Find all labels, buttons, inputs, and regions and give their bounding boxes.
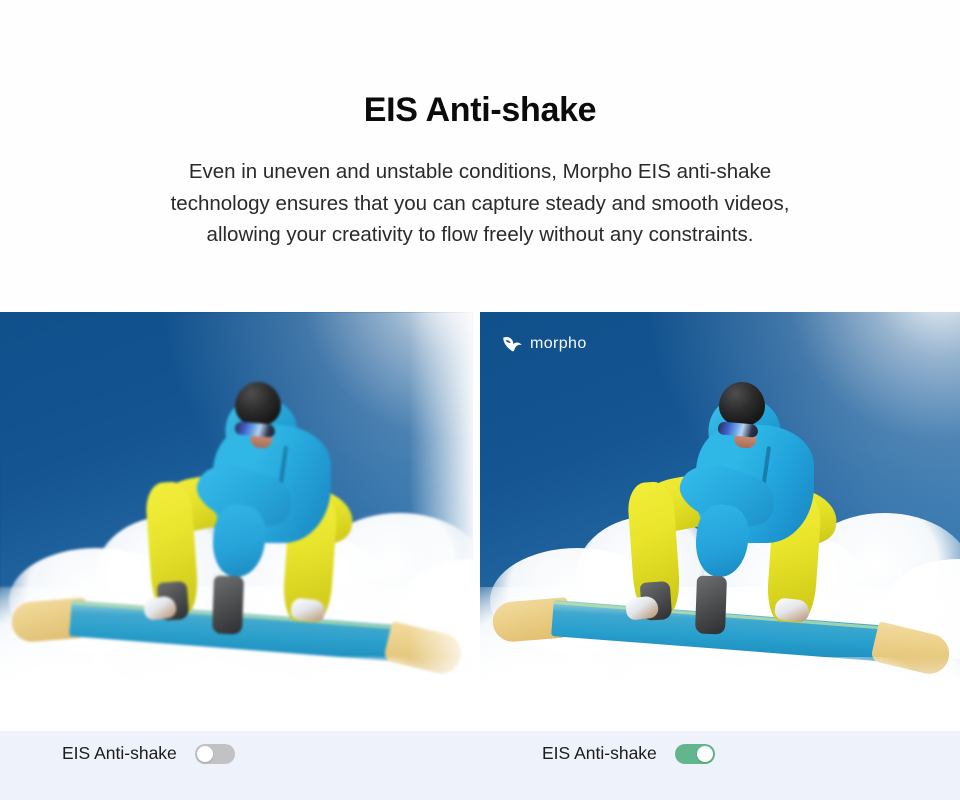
marketing-page: EIS Anti-shake Even in uneven and unstab…	[0, 0, 960, 800]
rider-right-boot	[212, 575, 244, 634]
footer-right-half: EIS Anti-shake	[480, 731, 960, 800]
toggle-bar: EIS Anti-shake EIS Anti-shake	[0, 731, 960, 800]
before-panel-unstabilized	[0, 312, 473, 731]
toggle-knob	[197, 746, 213, 762]
panel-edge-fade	[409, 312, 473, 731]
page-title: EIS Anti-shake	[0, 92, 960, 129]
rider-helmet	[235, 382, 281, 426]
foreground-snow	[480, 657, 960, 731]
snowboarder-scene-blurred	[0, 312, 473, 731]
morpho-watermark-text: morpho	[530, 335, 587, 353]
morpho-butterfly-icon	[501, 335, 523, 353]
page-description: Even in uneven and unstable conditions, …	[140, 156, 820, 251]
toggle-knob	[697, 746, 713, 762]
after-panel-stabilized: morpho	[480, 312, 960, 731]
comparison-section: morpho	[0, 312, 960, 731]
rider-right-boot	[695, 575, 727, 634]
eis-toggle-switch-right[interactable]	[675, 744, 715, 764]
morpho-watermark: morpho	[501, 335, 587, 353]
rider-helmet	[719, 382, 765, 426]
eis-toggle-label-right: EIS Anti-shake	[542, 743, 657, 764]
eis-toggle-row-on[interactable]: EIS Anti-shake	[480, 743, 715, 764]
foreground-snow	[0, 657, 473, 731]
eis-toggle-switch-left[interactable]	[195, 744, 235, 764]
eis-toggle-label-left: EIS Anti-shake	[62, 743, 177, 764]
footer-left-half: EIS Anti-shake	[0, 731, 480, 800]
header-section: EIS Anti-shake Even in uneven and unstab…	[0, 0, 960, 312]
eis-toggle-row-off[interactable]: EIS Anti-shake	[0, 743, 235, 764]
snowboarder-scene-sharp	[480, 312, 960, 731]
